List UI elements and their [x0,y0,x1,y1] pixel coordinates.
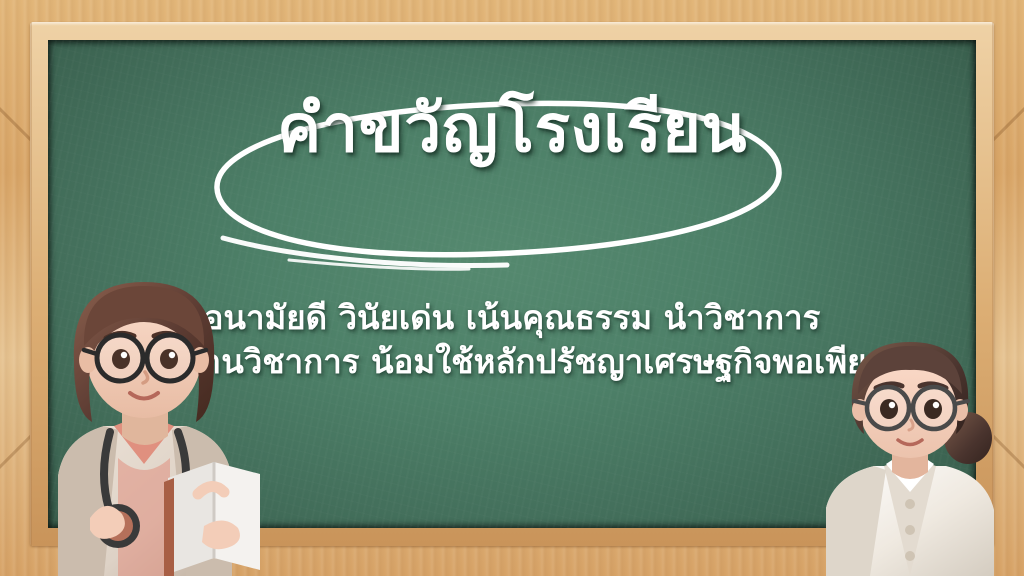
teacher-illustration-icon [800,326,1020,576]
student-illustration-icon [18,226,268,576]
slide-canvas: คำขวัญโรงเรียน อนามัยดี วินัยเด่น เน้นคุ… [0,0,1024,576]
character-teacher-with-bun [800,326,1020,576]
page-title: คำขวัญโรงเรียน [48,96,976,162]
character-student-with-book [18,226,268,576]
